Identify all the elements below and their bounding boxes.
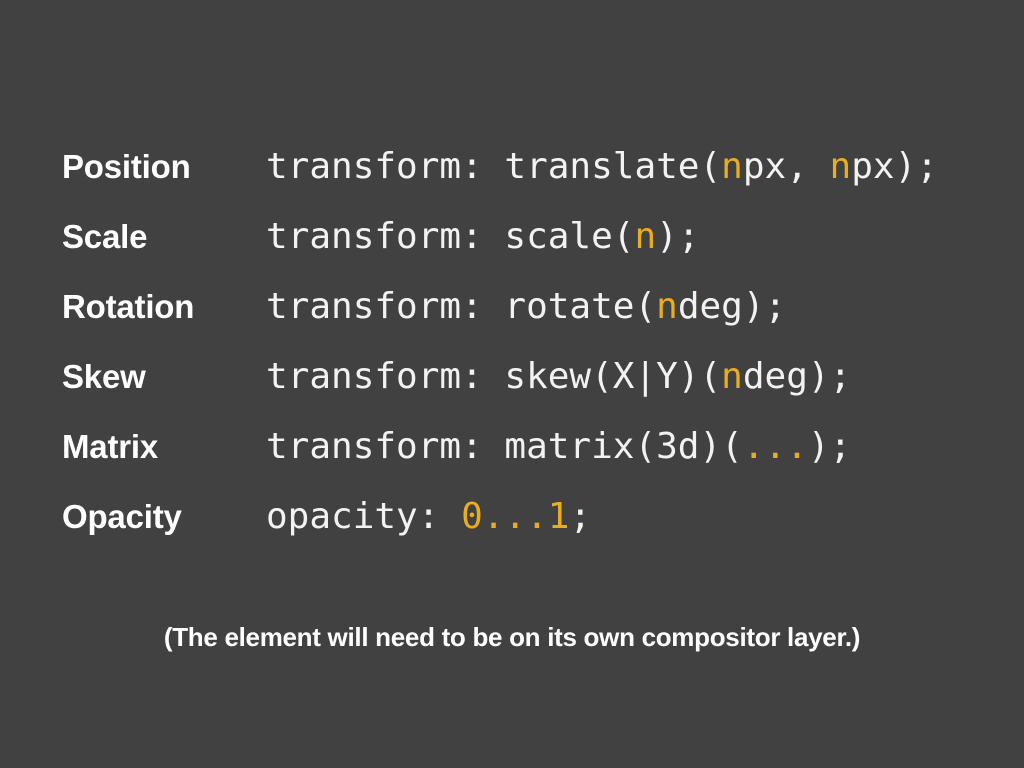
property-code: transform: matrix(3d)(...);	[266, 412, 851, 482]
property-code: opacity: 0...1;	[266, 482, 591, 552]
code-token: px);	[851, 146, 938, 187]
slide-root: Position transform: translate(npx, npx);…	[0, 0, 1024, 768]
code-token: deg);	[743, 356, 851, 397]
code-token: );	[656, 216, 699, 257]
property-code: transform: translate(npx, npx);	[266, 132, 938, 202]
property-label: Scale	[62, 202, 147, 272]
code-token: opacity:	[266, 496, 461, 537]
property-code: transform: scale(n);	[266, 202, 700, 272]
code-token: px,	[743, 146, 830, 187]
property-row: Scale transform: scale(n);	[0, 202, 1024, 272]
property-label: Matrix	[62, 412, 158, 482]
code-token: ;	[569, 496, 591, 537]
property-code: transform: rotate(ndeg);	[266, 272, 786, 342]
property-row: Opacity opacity: 0...1;	[0, 482, 1024, 552]
code-token: transform: rotate(	[266, 286, 656, 327]
code-token-highlight: 0...1	[461, 496, 569, 537]
property-code: transform: skew(X|Y)(ndeg);	[266, 342, 851, 412]
property-row: Matrix transform: matrix(3d)(...);	[0, 412, 1024, 482]
code-token: transform: translate(	[266, 146, 721, 187]
code-token-highlight: n	[634, 216, 656, 257]
code-token: transform: scale(	[266, 216, 634, 257]
property-label: Position	[62, 132, 191, 202]
code-token-highlight: n	[656, 286, 678, 327]
property-label: Skew	[62, 342, 146, 412]
property-label: Rotation	[62, 272, 194, 342]
property-row-list: Position transform: translate(npx, npx);…	[0, 132, 1024, 552]
code-token-highlight: n	[721, 146, 743, 187]
code-token-highlight: n	[830, 146, 852, 187]
code-token: deg);	[678, 286, 786, 327]
code-token: transform: skew(X|Y)(	[266, 356, 721, 397]
footnote-caption: (The element will need to be on its own …	[0, 622, 1024, 653]
property-row: Rotation transform: rotate(ndeg);	[0, 272, 1024, 342]
code-token-highlight: ...	[743, 426, 808, 467]
property-row: Skew transform: skew(X|Y)(ndeg);	[0, 342, 1024, 412]
code-token: );	[808, 426, 851, 467]
code-token-highlight: n	[721, 356, 743, 397]
property-label: Opacity	[62, 482, 182, 552]
code-token: transform: matrix(3d)(	[266, 426, 743, 467]
property-row: Position transform: translate(npx, npx);	[0, 132, 1024, 202]
